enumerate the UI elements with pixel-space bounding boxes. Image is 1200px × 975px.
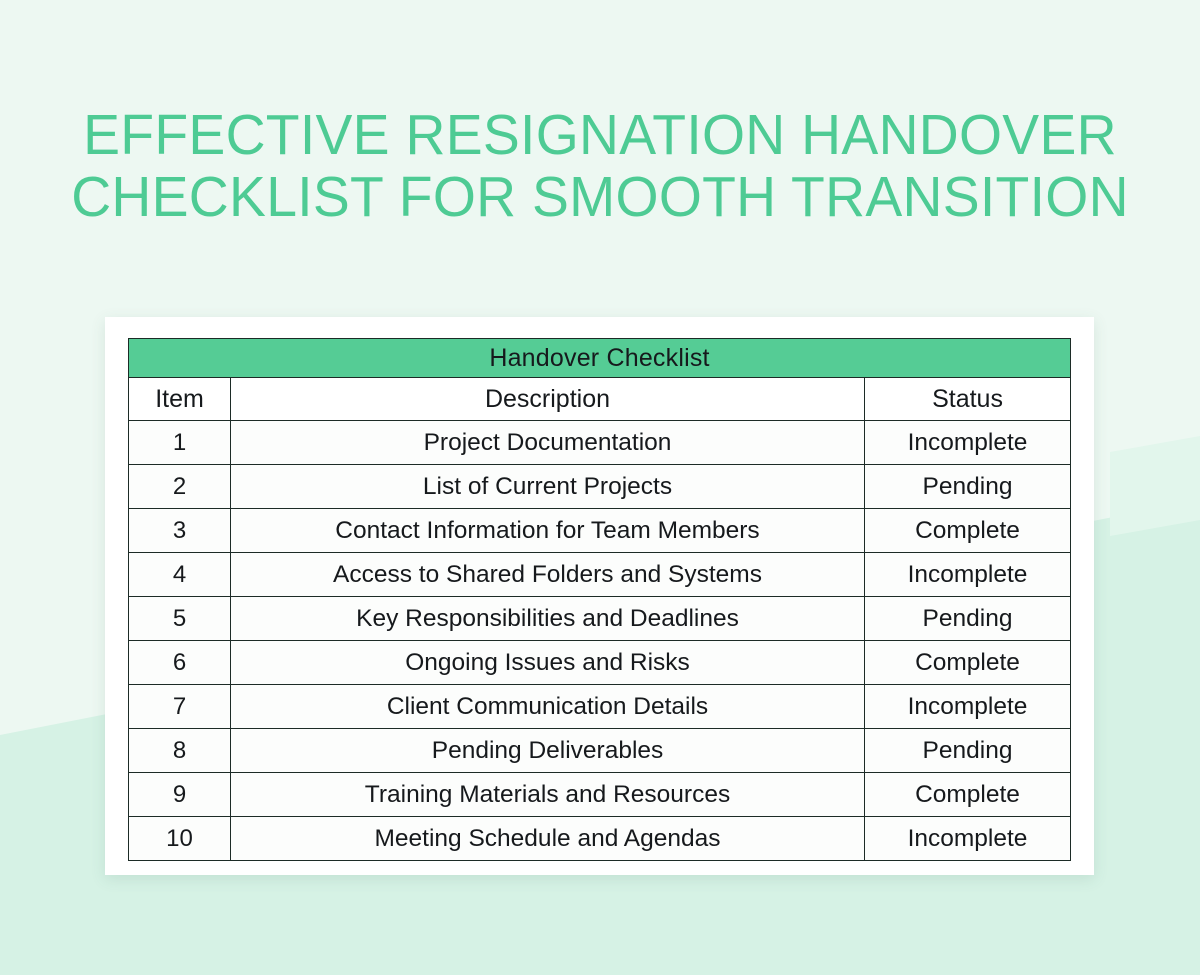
table-row: 3 Contact Information for Team Members C… bbox=[129, 509, 1071, 553]
handover-checklist-table: Handover Checklist Item Description Stat… bbox=[128, 338, 1071, 861]
column-header-description: Description bbox=[231, 378, 865, 421]
cell-description: List of Current Projects bbox=[231, 465, 865, 509]
table-row: 7 Client Communication Details Incomplet… bbox=[129, 685, 1071, 729]
cell-item: 7 bbox=[129, 685, 231, 729]
cell-status: Complete bbox=[865, 641, 1071, 685]
cell-item: 2 bbox=[129, 465, 231, 509]
page-title-line-2: CHECKLIST FOR SMOOTH TRANSITION bbox=[18, 166, 1182, 228]
table-row: 9 Training Materials and Resources Compl… bbox=[129, 773, 1071, 817]
page-title: EFFECTIVE RESIGNATION HANDOVER CHECKLIST… bbox=[0, 104, 1200, 228]
table-row: 1 Project Documentation Incomplete bbox=[129, 421, 1071, 465]
table-row: 8 Pending Deliverables Pending bbox=[129, 729, 1071, 773]
table-body: 1 Project Documentation Incomplete 2 Lis… bbox=[129, 421, 1071, 861]
cell-status: Pending bbox=[865, 597, 1071, 641]
cell-item: 3 bbox=[129, 509, 231, 553]
cell-description: Pending Deliverables bbox=[231, 729, 865, 773]
cell-status: Complete bbox=[865, 509, 1071, 553]
table-banner-title: Handover Checklist bbox=[129, 339, 1071, 378]
cell-item: 10 bbox=[129, 817, 231, 861]
table-row: 5 Key Responsibilities and Deadlines Pen… bbox=[129, 597, 1071, 641]
table-row: 4 Access to Shared Folders and Systems I… bbox=[129, 553, 1071, 597]
table-row: 6 Ongoing Issues and Risks Complete bbox=[129, 641, 1071, 685]
cell-item: 1 bbox=[129, 421, 231, 465]
checklist-card: Handover Checklist Item Description Stat… bbox=[105, 317, 1094, 875]
cell-status: Incomplete bbox=[865, 817, 1071, 861]
cell-status: Pending bbox=[865, 729, 1071, 773]
cell-description: Client Communication Details bbox=[231, 685, 865, 729]
cell-status: Complete bbox=[865, 773, 1071, 817]
cell-description: Ongoing Issues and Risks bbox=[231, 641, 865, 685]
cell-item: 5 bbox=[129, 597, 231, 641]
cell-description: Access to Shared Folders and Systems bbox=[231, 553, 865, 597]
table-row: 10 Meeting Schedule and Agendas Incomple… bbox=[129, 817, 1071, 861]
page-title-line-1: EFFECTIVE RESIGNATION HANDOVER bbox=[18, 104, 1182, 166]
table-header-row: Item Description Status bbox=[129, 378, 1071, 421]
table-banner-row: Handover Checklist bbox=[129, 339, 1071, 378]
cell-status: Incomplete bbox=[865, 421, 1071, 465]
cell-status: Pending bbox=[865, 465, 1071, 509]
cell-description: Contact Information for Team Members bbox=[231, 509, 865, 553]
cell-item: 6 bbox=[129, 641, 231, 685]
cell-status: Incomplete bbox=[865, 553, 1071, 597]
cell-status: Incomplete bbox=[865, 685, 1071, 729]
cell-description: Training Materials and Resources bbox=[231, 773, 865, 817]
cell-item: 8 bbox=[129, 729, 231, 773]
column-header-status: Status bbox=[865, 378, 1071, 421]
table-row: 2 List of Current Projects Pending bbox=[129, 465, 1071, 509]
cell-description: Project Documentation bbox=[231, 421, 865, 465]
cell-item: 4 bbox=[129, 553, 231, 597]
cell-description: Key Responsibilities and Deadlines bbox=[231, 597, 865, 641]
column-header-item: Item bbox=[129, 378, 231, 421]
cell-description: Meeting Schedule and Agendas bbox=[231, 817, 865, 861]
cell-item: 9 bbox=[129, 773, 231, 817]
